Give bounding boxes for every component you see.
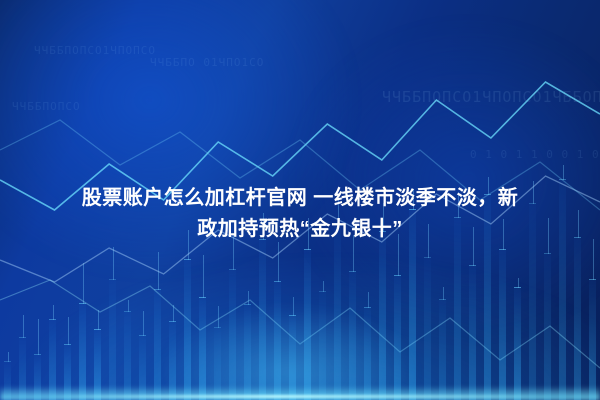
- bottom-horizon-core: [48, 395, 552, 398]
- banner-image: ЧЧББПОПСО1ЧПОПСО ЧЧББПО 01ЧПО1СО ЧЧББПОП…: [0, 0, 600, 400]
- watermark-text: ЧЧББПОПСО1ЧПОПСО1ЧББОПО: [382, 88, 600, 106]
- headline-line-1: 股票账户怎么加杠杆官网 一线楼市淡季不淡，新: [82, 186, 519, 211]
- watermark-text: 0 1 0 1 1 0 0 1 0 1: [470, 148, 600, 161]
- headline-banner-content: 股票账户怎么加杠杆官网 一线楼市淡季不淡，新 政加持预热“金九银十”: [0, 168, 600, 260]
- watermark-text: ЧЧББПО 01ЧПО1СО: [150, 56, 264, 69]
- watermark-text: ЧЧББПОПСО1ЧПОПСО: [34, 44, 156, 57]
- watermark-text: ЧЧББПОПСО: [12, 100, 81, 113]
- headline-line-2: 政加持预热“金九银十”: [197, 217, 403, 242]
- headline-banner: 股票账户怎么加杠杆官网 一线楼市淡季不淡，新 政加持预热“金九银十”: [0, 168, 600, 260]
